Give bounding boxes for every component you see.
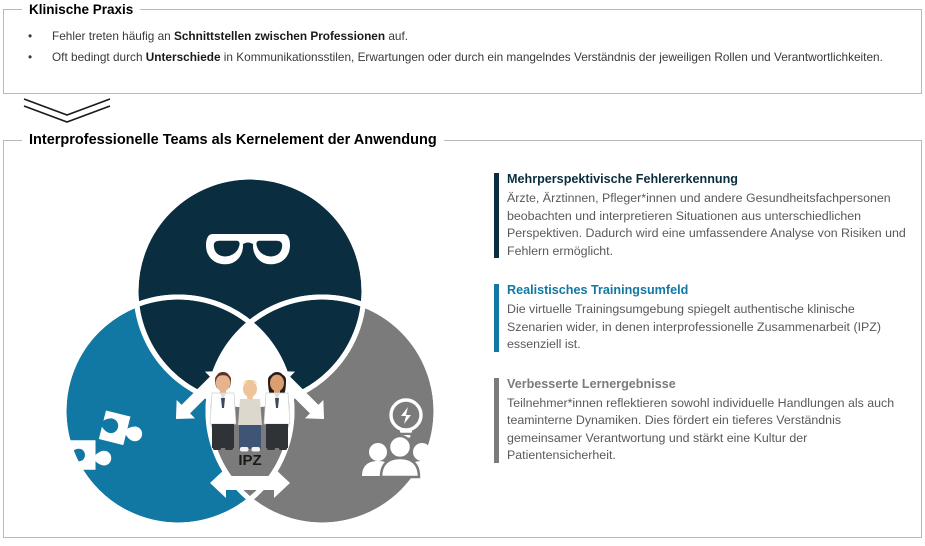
bullet-text: Fehler treten häufig an Schnittstellen z… — [52, 27, 907, 45]
interprofessional-teams-panel: Interprofessionelle Teams als Kernelemen… — [3, 140, 922, 538]
interprofessional-teams-title: Interprofessionelle Teams als Kernelemen… — [22, 132, 444, 149]
feature-accent-bar — [494, 378, 499, 463]
feature-body: Ärzte, Ärztinnen, Pfleger*innen und ande… — [507, 190, 914, 260]
clinical-practice-bullet-list: •Fehler treten häufig an Schnittstellen … — [4, 10, 921, 66]
feature-title: Mehrperspektivische Fehlererkennung — [507, 171, 914, 188]
venn-center-label: IPZ — [238, 452, 261, 469]
feature-block: Mehrperspektivische FehlererkennungÄrzte… — [494, 171, 914, 260]
clinical-practice-title: Klinische Praxis — [22, 1, 140, 18]
bullet-item: •Fehler treten häufig an Schnittstellen … — [18, 27, 907, 45]
venn-diagram: IPZ — [10, 163, 490, 535]
double-chevron-down-icon — [22, 97, 112, 123]
feature-body: Teilnehmer*innen reflektieren sowohl ind… — [507, 395, 914, 465]
clinical-practice-panel: Klinische Praxis •Fehler treten häufig a… — [3, 9, 922, 94]
feature-block: Realistisches TrainingsumfeldDie virtuel… — [494, 282, 914, 354]
bullet-marker: • — [18, 48, 52, 66]
healthcare-team-figures-icon — [210, 372, 290, 452]
feature-accent-bar — [494, 173, 499, 258]
feature-title: Verbesserte Lernergebnisse — [507, 376, 914, 393]
feature-title: Realistisches Trainingsumfeld — [507, 282, 914, 299]
feature-list: Mehrperspektivische FehlererkennungÄrzte… — [494, 171, 914, 531]
feature-block: Verbesserte LernergebnisseTeilnehmer*inn… — [494, 376, 914, 465]
feature-accent-bar — [494, 284, 499, 352]
bullet-text: Oft bedingt durch Unterschiede in Kommun… — [52, 48, 907, 66]
bullet-item: •Oft bedingt durch Unterschiede in Kommu… — [18, 48, 907, 66]
bullet-marker: • — [18, 27, 52, 45]
feature-body: Die virtuelle Trainingsumgebung spiegelt… — [507, 301, 914, 354]
